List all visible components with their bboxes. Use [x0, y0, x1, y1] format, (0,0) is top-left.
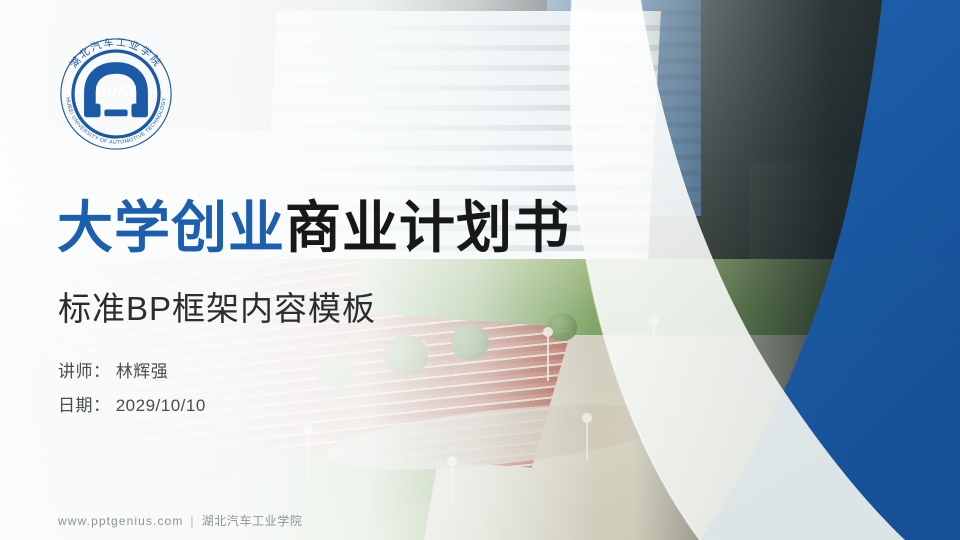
- huat-emblem-icon: HUAT 湖北汽车工业学院 HUBEI UNIVERSITY OF AUTOMO…: [58, 36, 174, 152]
- svg-text:HUAT: HUAT: [95, 84, 137, 100]
- footer-organization: 湖北汽车工业学院: [202, 514, 303, 528]
- slide-subtitle: 标准BP框架内容模板: [58, 282, 376, 330]
- slide-footer: www.pptgenius.com|湖北汽车工业学院: [58, 512, 302, 529]
- date-line: 日期： 2029/10/10: [58, 389, 206, 423]
- slide-title: 大学创业商业计划书: [57, 198, 570, 258]
- footer-separator: |: [190, 514, 194, 528]
- footer-website: www.pptgenius.com: [58, 514, 183, 528]
- slide-title-highlight: 大学创业: [57, 196, 285, 259]
- slide-title-rest: 商业计划书: [285, 196, 570, 259]
- presenter-line: 讲师： 林辉强: [58, 355, 206, 389]
- slide-meta: 讲师： 林辉强 日期： 2029/10/10: [58, 355, 206, 423]
- presentation-slide: HUAT 湖北汽车工业学院 HUBEI UNIVERSITY OF AUTOMO…: [0, 0, 960, 540]
- university-logo: HUAT 湖北汽车工业学院 HUBEI UNIVERSITY OF AUTOMO…: [58, 36, 174, 152]
